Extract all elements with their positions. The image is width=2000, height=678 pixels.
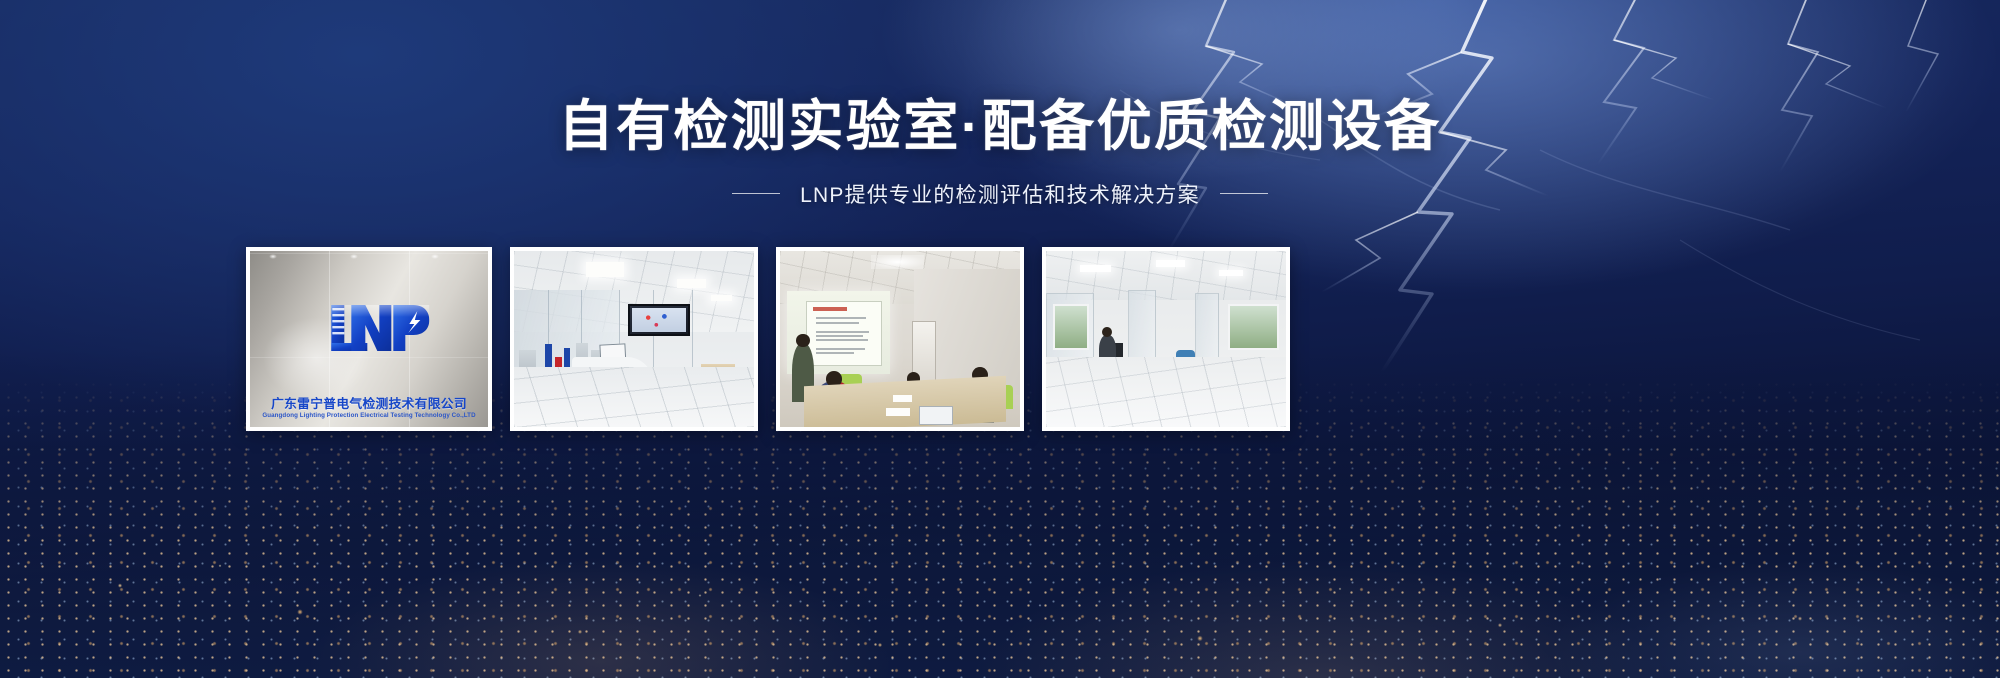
lab-tiled-floor <box>514 367 754 427</box>
gallery-item-high-voltage-testing-laboratory[interactable] <box>510 247 758 431</box>
gallery-item-company-logo-wall-sign[interactable]: 广东雷宁普电气检测技术有限公司 Guangdong Lighting Prote… <box>246 247 492 431</box>
office-tiled-floor <box>1046 357 1286 427</box>
company-name-en: Guangdong Lighting Protection Electrical… <box>250 413 488 419</box>
paper-document <box>886 408 910 417</box>
ceiling-light-panel <box>586 262 624 278</box>
photo-gallery: 广东雷宁普电气检测技术有限公司 Guangdong Lighting Prote… <box>246 247 1290 431</box>
slide-body-line <box>816 352 855 354</box>
slide-body-line <box>816 335 864 337</box>
photo-high-voltage-testing-laboratory <box>514 251 754 427</box>
laptop-computer <box>919 406 953 425</box>
slide-body-line <box>816 331 870 333</box>
ceiling-light-panel <box>1219 270 1243 275</box>
slide-body-line <box>816 317 867 319</box>
page-title: 自有检测实验室·配备优质检测设备 <box>0 96 2000 157</box>
hero-banner: 自有检测实验室·配备优质检测设备 LNP提供专业的检测评估和技术解决方案 <box>0 0 2000 678</box>
subtitle-row: LNP提供专业的检测评估和技术解决方案 <box>0 179 2000 209</box>
ceiling-light-panel <box>677 279 706 288</box>
ceiling-spotlight <box>350 254 358 259</box>
ceiling-spotlight <box>431 254 439 259</box>
ceiling-light-panel <box>1080 265 1111 272</box>
slide-heading-text <box>813 307 847 310</box>
ceiling-light-panel <box>711 295 733 301</box>
company-name-cn: 广东雷宁普电气检测技术有限公司 <box>250 398 488 411</box>
company-name-block: 广东雷宁普电气检测技术有限公司 Guangdong Lighting Prote… <box>250 398 488 419</box>
photo-training-meeting-room <box>780 251 1020 427</box>
slide-body-line <box>816 339 868 341</box>
dash-right-decoration <box>1220 193 1268 194</box>
photo-office-interior <box>1046 251 1286 427</box>
page-subtitle: LNP提供专业的检测评估和技术解决方案 <box>800 179 1200 209</box>
gallery-item-training-meeting-room[interactable] <box>776 247 1024 431</box>
ceiling-spotlight <box>269 254 277 259</box>
display-screen-content <box>632 308 686 333</box>
ceiling-light-panel <box>871 255 924 269</box>
ceiling-light-panel <box>1156 260 1185 267</box>
wall-panel-seam <box>250 253 488 254</box>
presentation-slide <box>806 301 882 366</box>
wall-mounted-display <box>628 304 690 337</box>
gallery-item-office-interior[interactable] <box>1042 247 1290 431</box>
paper-document <box>893 395 912 402</box>
photo-company-logo-wall-sign: 广东雷宁普电气检测技术有限公司 Guangdong Lighting Prote… <box>250 251 488 427</box>
banner-text-block: 自有检测实验室·配备优质检测设备 LNP提供专业的检测评估和技术解决方案 <box>0 96 2000 209</box>
dash-left-decoration <box>732 193 780 194</box>
presenter-head <box>796 334 809 347</box>
window-with-greenery <box>1053 304 1089 350</box>
slide-body-line <box>816 348 865 350</box>
slide-body-line <box>816 322 859 324</box>
window-with-greenery <box>1228 304 1278 350</box>
lnp-logo-mark <box>325 299 429 357</box>
